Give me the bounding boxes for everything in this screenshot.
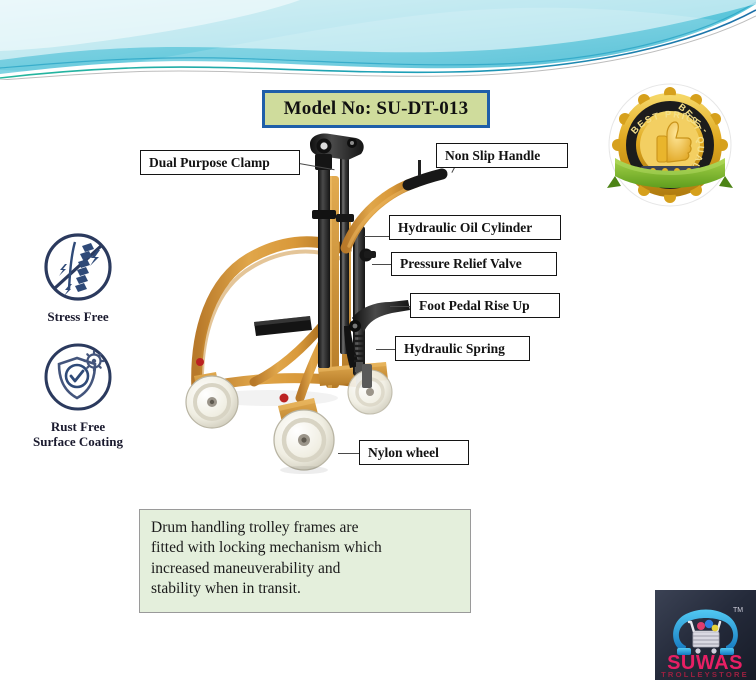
leader-hydraulic-oil-cylinder	[364, 236, 390, 237]
callout-hydraulic-oil-cylinder: Hydraulic Oil Cylinder	[389, 215, 561, 240]
leader-foot-pedal-rise-up	[390, 306, 411, 307]
callout-label: Non Slip Handle	[445, 149, 540, 163]
leader-nylon-wheel	[338, 453, 360, 454]
callout-foot-pedal-rise-up: Foot Pedal Rise Up	[410, 293, 560, 318]
no-back-stress-icon	[39, 228, 117, 306]
callout-label: Nylon wheel	[368, 446, 439, 460]
feature-stress-free: Stress Free	[18, 228, 138, 325]
model-number-text: Model No: SU-DT-013	[284, 98, 469, 120]
best-price-best-quality-badge: BEST PRICE - BEST QUALITY	[605, 80, 735, 210]
brand-tagline-text: TROLLEYSTORE	[661, 670, 749, 679]
callout-dual-purpose-clamp: Dual Purpose Clamp	[140, 150, 300, 175]
callout-label: Hydraulic Oil Cylinder	[398, 221, 532, 235]
description-text: Drum handling trolley frames are fitted …	[151, 518, 459, 600]
description-box: Drum handling trolley frames are fitted …	[139, 509, 471, 613]
leader-hydraulic-spring	[376, 349, 396, 350]
callout-label: Foot Pedal Rise Up	[419, 299, 530, 313]
feature-rust-free: Rust Free Surface Coating	[18, 338, 138, 450]
callout-nylon-wheel: Nylon wheel	[359, 440, 469, 465]
callout-non-slip-handle: Non Slip Handle	[436, 143, 568, 168]
brand-logo-suwas-trolleystore: TM SUWAS TROLLEYSTORE	[655, 590, 756, 680]
feature-caption: Stress Free	[18, 310, 138, 325]
callout-label: Pressure Relief Valve	[400, 257, 522, 271]
shield-check-gear-icon	[39, 338, 117, 416]
callout-pressure-relief-valve: Pressure Relief Valve	[391, 252, 557, 276]
callout-hydraulic-spring: Hydraulic Spring	[395, 336, 530, 361]
leader-pressure-relief-valve	[372, 264, 392, 265]
callout-label: Dual Purpose Clamp	[149, 156, 270, 170]
model-number-plate: Model No: SU-DT-013	[262, 90, 490, 128]
callout-label: Hydraulic Spring	[404, 342, 505, 356]
trademark-text: TM	[733, 607, 743, 614]
header-wave-banner	[0, 0, 756, 80]
feature-caption: Rust Free Surface Coating	[18, 420, 138, 450]
